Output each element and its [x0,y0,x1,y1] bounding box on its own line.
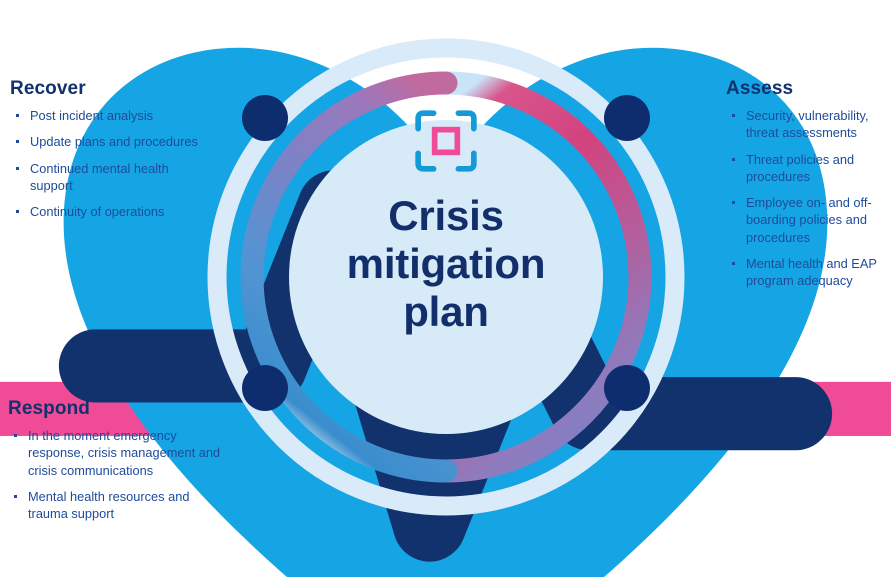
node-prepare[interactable] [604,365,650,411]
list-item: In the moment emergency response, crisis… [8,427,223,479]
list-item: Continued mental health support [10,160,210,195]
quadrant-recover: Recover Post incident analysis Update pl… [10,78,210,229]
list-item: Security, vulnerability, threat assessme… [726,107,884,142]
list-item: Post incident analysis [10,107,210,124]
list-item: Threat policies and procedures [726,151,884,186]
node-assess[interactable] [604,95,650,141]
list-item: Continuity of operations [10,203,210,220]
inner-disc [289,120,603,434]
quadrant-list-respond: In the moment emergency response, crisis… [8,427,223,522]
node-recover[interactable] [242,95,288,141]
list-item: Mental health and EAP program adequacy [726,255,884,290]
list-item: Update plans and procedures [10,133,210,150]
quadrant-list-recover: Post incident analysis Update plans and … [10,107,210,220]
quadrant-respond: Respond In the moment emergency response… [8,398,223,531]
quadrant-heading-recover: Recover [10,78,210,100]
quadrant-assess: Assess Security, vulnerability, threat a… [726,78,884,298]
quadrant-heading-assess: Assess [726,78,884,100]
node-respond[interactable] [242,365,288,411]
list-item: Employee on- and off-boarding policies a… [726,194,884,246]
quadrant-heading-respond: Respond [8,398,223,420]
list-item: Mental health resources and trauma suppo… [8,488,223,523]
crisis-mitigation-infographic: Crisis mitigation plan [0,0,891,577]
quadrant-list-assess: Security, vulnerability, threat assessme… [726,107,884,289]
